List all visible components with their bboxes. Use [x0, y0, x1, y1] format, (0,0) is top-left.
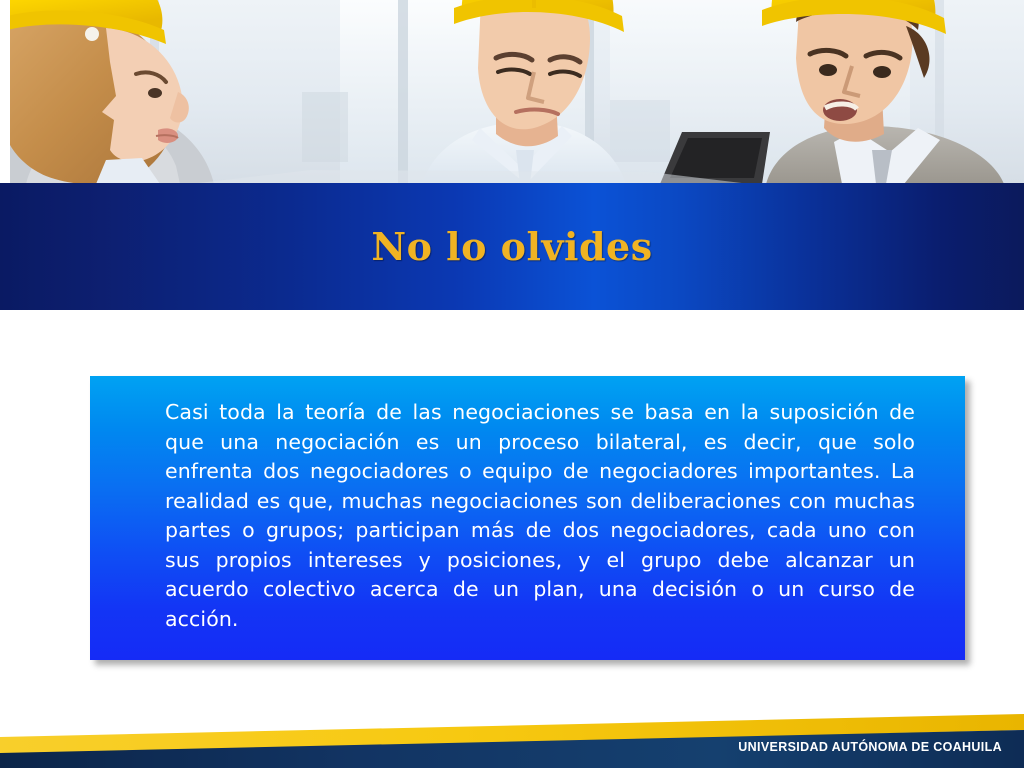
slide: No lo olvides Casi toda la teoría de las… [0, 0, 1024, 768]
header-photo-banner [10, 0, 1024, 184]
content-box: Casi toda la teoría de las negociaciones… [90, 376, 965, 660]
footer-decoration: UNIVERSIDAD AUTÓNOMA DE COAHUILA [0, 708, 1024, 768]
body-paragraph: Casi toda la teoría de las negociaciones… [165, 398, 915, 634]
title-band: No lo olvides [0, 183, 1024, 310]
footer-institution-label: UNIVERSIDAD AUTÓNOMA DE COAHUILA [738, 740, 1002, 754]
page-title: No lo olvides [0, 183, 1024, 310]
footer-swoosh-shape [0, 708, 1024, 768]
banner-photo-image [10, 0, 1024, 184]
